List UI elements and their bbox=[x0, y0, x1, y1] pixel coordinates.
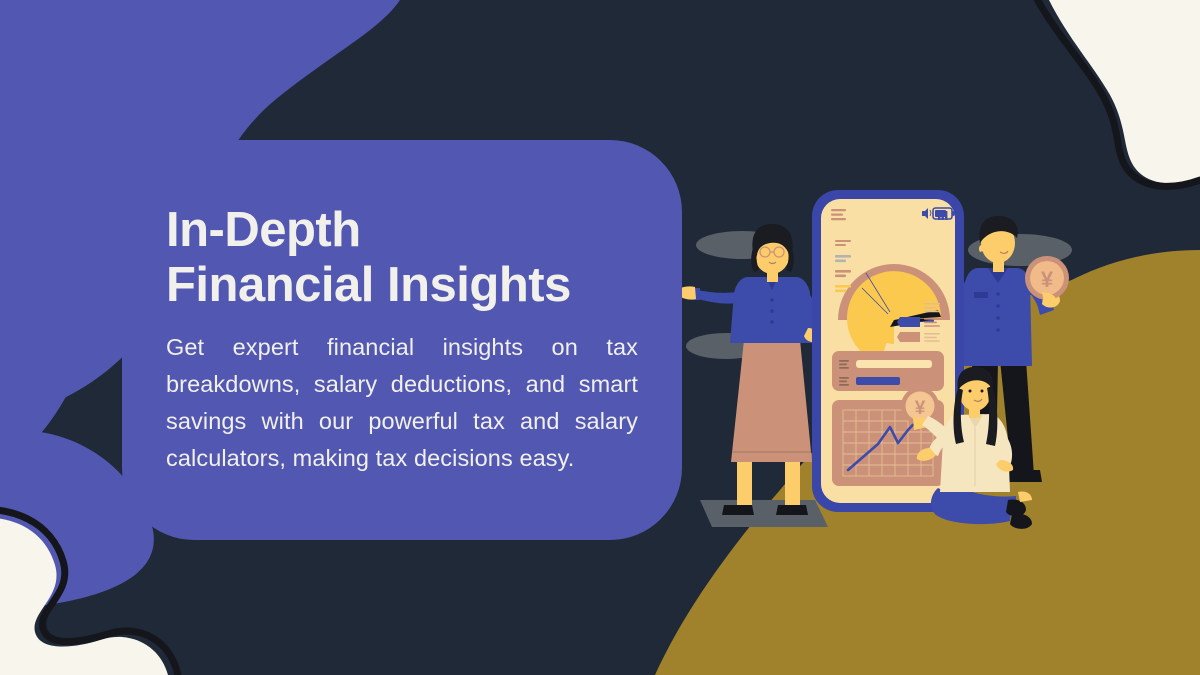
slide-canvas: ¥ bbox=[0, 0, 1200, 675]
svg-text:¥: ¥ bbox=[915, 398, 926, 419]
woman-shoe-left bbox=[722, 505, 754, 515]
kneeling-shoe-2 bbox=[1010, 513, 1032, 528]
summary-bar-1 bbox=[856, 360, 932, 368]
woman-skirt bbox=[731, 340, 812, 462]
kneeling-foot-skin bbox=[1018, 491, 1032, 502]
hero-description: Get expert financial insights on tax bre… bbox=[166, 329, 638, 478]
hero-card: In-Depth Financial Insights Get expert f… bbox=[122, 140, 682, 540]
woman-button-3 bbox=[770, 320, 774, 324]
woman-leg-left bbox=[737, 455, 752, 510]
woman-leg-right bbox=[785, 455, 800, 510]
ground-slab-left bbox=[700, 500, 828, 527]
summary-card[interactable] bbox=[832, 351, 944, 391]
woman-shoe-right bbox=[776, 505, 808, 515]
character-woman-pointing bbox=[675, 224, 819, 515]
legend-item-3 bbox=[897, 332, 940, 342]
man-button-3 bbox=[996, 316, 1000, 320]
man-button-2 bbox=[996, 304, 1000, 308]
kneeling-eye-left bbox=[969, 390, 972, 393]
woman-button-2 bbox=[770, 309, 774, 313]
page-title: In-Depth Financial Insights bbox=[166, 203, 638, 313]
phone-mockup bbox=[812, 190, 964, 512]
woman-arm-left-pointing bbox=[695, 290, 737, 304]
summary-bar-2 bbox=[856, 377, 900, 385]
man-button-4 bbox=[996, 328, 1000, 332]
man-shoe-right bbox=[1004, 470, 1042, 482]
man-pocket bbox=[974, 292, 988, 298]
legend-item-1 bbox=[897, 302, 940, 312]
man-button-1 bbox=[996, 292, 1000, 296]
kneeling-eye-right bbox=[981, 390, 984, 393]
legend-item-2 bbox=[897, 317, 940, 327]
woman-button-1 bbox=[770, 298, 774, 302]
svg-text:¥: ¥ bbox=[1041, 267, 1054, 292]
